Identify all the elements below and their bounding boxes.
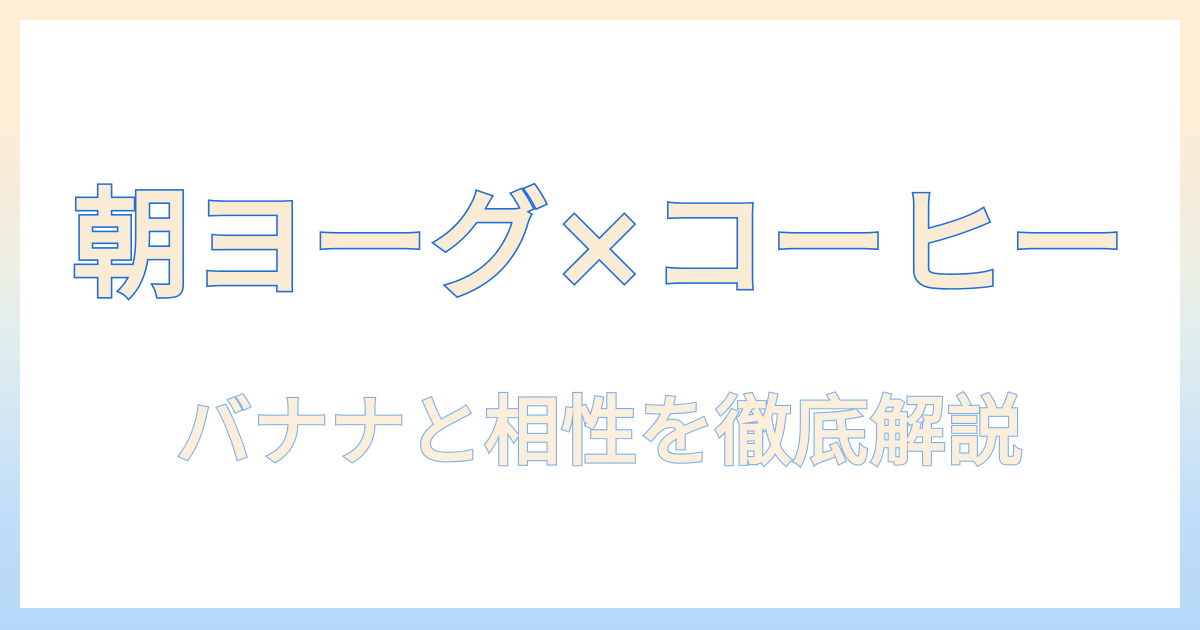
page-title: 朝ヨーグ×コーヒー — [72, 176, 1128, 315]
page-subtitle: バナナと相性を徹底解説 — [176, 386, 1025, 477]
poster-card: 朝ヨーグ×コーヒー バナナと相性を徹底解説 — [20, 20, 1180, 608]
poster-canvas: 朝ヨーグ×コーヒー バナナと相性を徹底解説 — [0, 0, 1200, 630]
title-block: 朝ヨーグ×コーヒー — [20, 176, 1180, 315]
subtitle-block: バナナと相性を徹底解説 — [20, 386, 1180, 477]
